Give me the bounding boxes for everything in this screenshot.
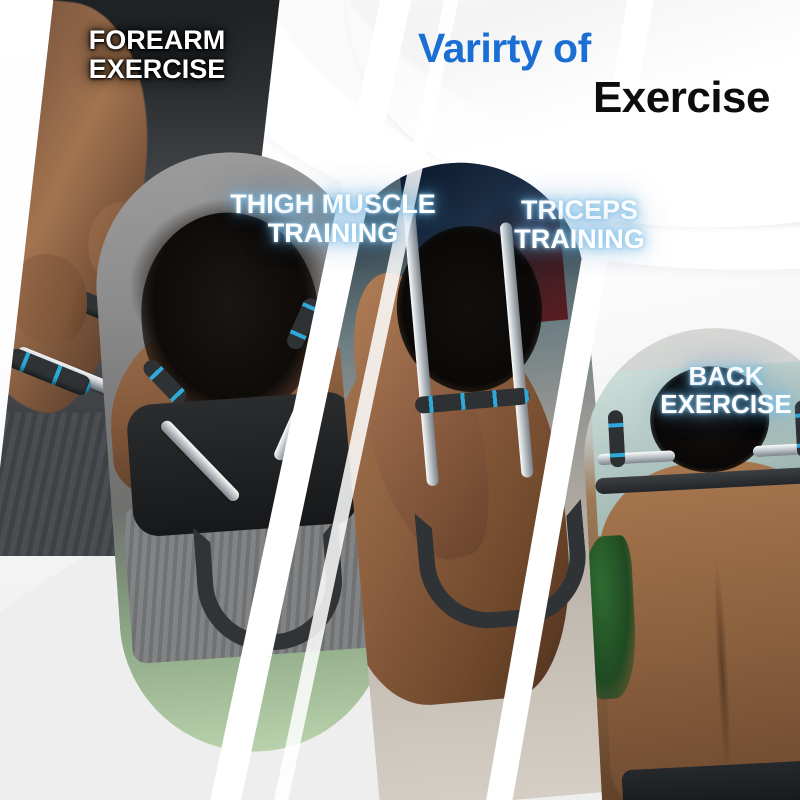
page-title: Varirty of Exercise [404,28,784,121]
title-line-exercise: Exercise [404,75,784,121]
panel-back-exercise [578,322,800,800]
athlete-shorts [126,390,360,537]
foam-grip [608,410,626,468]
title-line-variety: Varirty of [404,28,784,69]
photo-back-exercise [578,322,800,800]
poster-canvas: Varirty of Exercise FOREARM EXERCISE THI… [0,0,800,800]
